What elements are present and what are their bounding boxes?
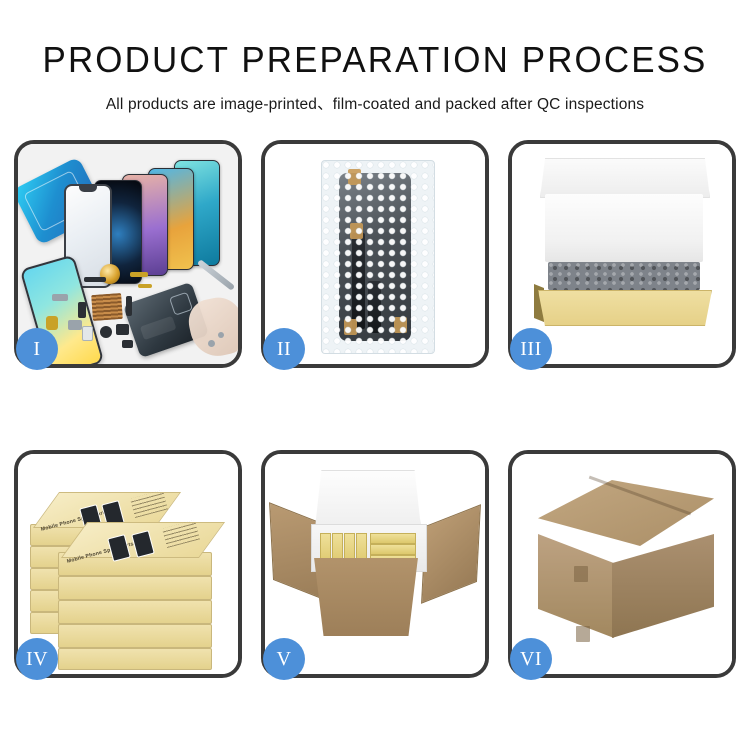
tape-strip xyxy=(394,317,407,333)
process-step-2: II xyxy=(261,140,489,368)
bubble-wrap-bag xyxy=(321,160,435,354)
step-4-image: Mobile Phone Spare Parts Mobile Phone Sp… xyxy=(18,454,238,674)
white-foam-sheet xyxy=(545,194,703,262)
flex-cable xyxy=(352,233,365,329)
carton-tab xyxy=(574,566,588,582)
spare-part xyxy=(84,277,106,282)
screw xyxy=(218,332,224,338)
stacked-box xyxy=(58,600,212,624)
wrapped-screen-assembly xyxy=(339,173,411,341)
spare-part xyxy=(46,316,58,330)
foam-cooler-lid xyxy=(315,470,421,528)
tape-strip xyxy=(350,223,363,239)
spare-part xyxy=(138,284,152,288)
process-step-4: Mobile Phone Spare Parts Mobile Phone Sp… xyxy=(14,450,242,678)
step-badge-1: I xyxy=(16,328,58,370)
step-badge-4: IV xyxy=(16,638,58,680)
process-step-1: I xyxy=(14,140,242,368)
yellow-package xyxy=(370,544,416,555)
process-step-3: III xyxy=(508,140,736,368)
step-3-image xyxy=(512,144,732,364)
spare-part xyxy=(52,294,68,301)
carton-flap-right xyxy=(421,504,481,604)
process-step-6: VI xyxy=(508,450,736,678)
step-1-image xyxy=(18,144,238,364)
process-step-5: V xyxy=(261,450,489,678)
spare-part xyxy=(126,296,132,316)
yellow-package xyxy=(370,533,416,544)
carton-left-face xyxy=(538,534,614,638)
stacked-box xyxy=(58,624,212,648)
stacked-box xyxy=(58,576,212,600)
step-badge-3: III xyxy=(510,328,552,370)
page-title: PRODUCT PREPARATION PROCESS xyxy=(11,40,739,80)
spare-part xyxy=(68,320,82,330)
retail-box-stack: Mobile Phone Spare Parts Mobile Phone Sp… xyxy=(28,468,228,664)
flex-cable xyxy=(368,281,381,333)
box-lid-flap xyxy=(540,158,710,198)
carton-body xyxy=(307,558,425,636)
stacked-box xyxy=(58,648,212,670)
page-subtitle: All products are image-printed、film-coat… xyxy=(0,92,750,114)
spare-part xyxy=(100,326,112,338)
step-badge-5: V xyxy=(263,638,305,680)
spare-part xyxy=(130,272,148,277)
spare-part xyxy=(116,324,129,335)
step-5-image xyxy=(265,454,485,674)
step-badge-6: VI xyxy=(510,638,552,680)
screw xyxy=(208,340,215,347)
tape-strip xyxy=(348,169,361,185)
process-step-grid: I II xyxy=(14,140,736,678)
page-header: PRODUCT PREPARATION PROCESS All products… xyxy=(0,0,750,114)
phone-lineup xyxy=(48,158,228,268)
spare-part xyxy=(122,340,133,348)
copper-contact-grid xyxy=(91,293,123,321)
carton-tab xyxy=(576,626,590,642)
tape-strip xyxy=(344,319,357,335)
step-2-image xyxy=(265,144,485,364)
spare-part xyxy=(82,326,93,341)
gray-foam-padding xyxy=(548,262,700,290)
step-badge-2: II xyxy=(263,328,305,370)
box-front-panel xyxy=(538,290,712,326)
carton-right-face xyxy=(612,534,714,638)
step-6-image xyxy=(512,454,732,674)
spare-part xyxy=(78,302,86,318)
